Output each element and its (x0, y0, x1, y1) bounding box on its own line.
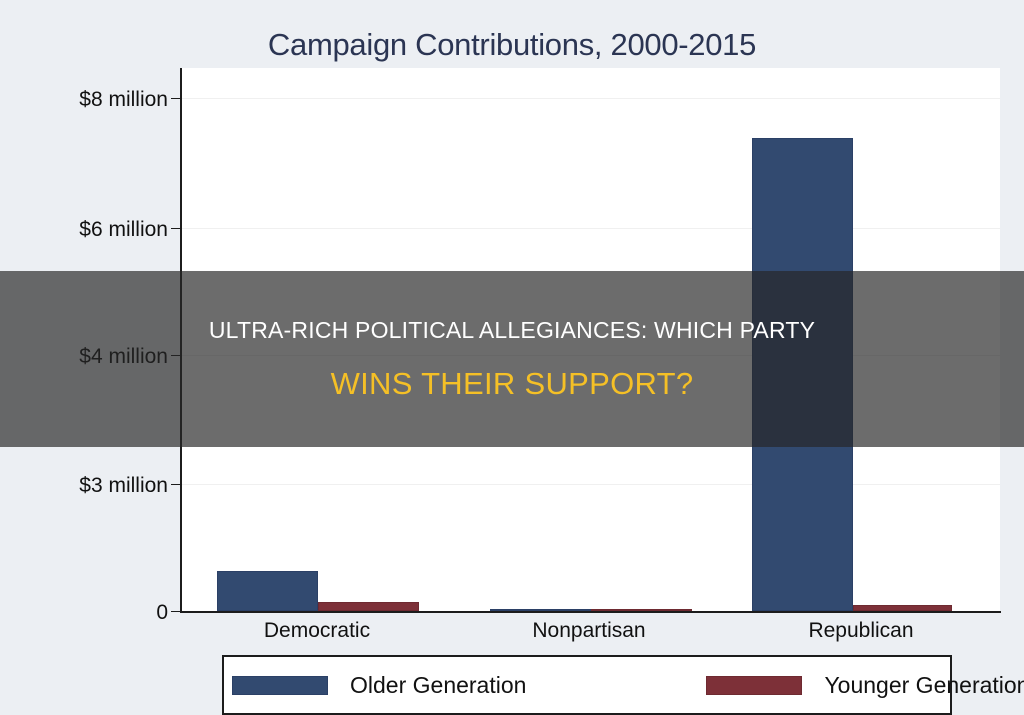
legend-entry-younger: Younger Generation (706, 672, 1024, 699)
legend-label-younger: Younger Generation (824, 672, 1024, 699)
y-tick-label-8m: $8 million (38, 88, 168, 112)
chart-legend: Older Generation Younger Generation (222, 655, 952, 715)
gridline-6m (180, 228, 1000, 229)
y-tick-mark-8m (171, 98, 180, 99)
bar-democratic-older (217, 571, 318, 611)
bar-democratic-younger (318, 602, 419, 611)
chart-title: Campaign Contributions, 2000-2015 (0, 27, 1024, 63)
gridline-8m (180, 98, 1000, 99)
y-tick-mark-3m (171, 484, 180, 485)
y-tick-mark-6m (171, 228, 180, 229)
y-tick-label-0: 0 (38, 601, 168, 625)
legend-swatch-older-icon (232, 676, 328, 695)
caption-headline-line2: WINS THEIR SUPPORT? (331, 366, 694, 402)
caption-headline-line1: ULTRA-RICH POLITICAL ALLEGIANCES: WHICH … (209, 317, 815, 344)
y-tick-label-3m: $3 million (38, 474, 168, 498)
legend-label-older: Older Generation (350, 672, 526, 699)
caption-overlay-band: ULTRA-RICH POLITICAL ALLEGIANCES: WHICH … (0, 271, 1024, 447)
y-tick-label-6m: $6 million (38, 218, 168, 242)
legend-swatch-younger-icon (706, 676, 802, 695)
legend-entry-older: Older Generation (232, 672, 526, 699)
x-tick-label-nonpartisan: Nonpartisan (452, 619, 726, 643)
x-tick-label-republican: Republican (724, 619, 998, 643)
x-axis-line (180, 611, 1001, 613)
gridline-3m (180, 484, 1000, 485)
y-tick-mark-0 (171, 611, 180, 612)
chart-container: Campaign Contributions, 2000-2015 $8 mil… (0, 0, 1024, 680)
x-tick-label-democratic: Democratic (180, 619, 454, 643)
